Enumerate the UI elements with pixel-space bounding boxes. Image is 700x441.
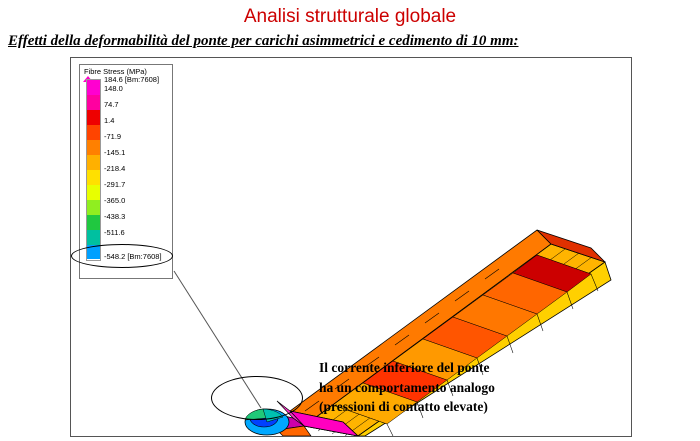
legend-tick-4: -145.1 xyxy=(104,148,125,157)
legend-tick-8: -438.3 xyxy=(104,212,125,221)
model-annotation: Il corrente inferiore del ponte ha un co… xyxy=(319,358,619,417)
legend-tick-2: 1.4 xyxy=(104,116,114,125)
annotation-line-3: (pressioni di contatto elevate) xyxy=(319,397,619,417)
fea-figure: Fibre Stress (MPa) 184.6 [Bm:7608] 148.0… xyxy=(70,57,632,437)
legend-tick-0: 148.0 xyxy=(104,84,123,93)
model-detail-highlight-ellipse xyxy=(211,376,303,420)
page-subtitle: Effetti della deformabilità del ponte pe… xyxy=(8,33,694,50)
legend-max-label: 184.6 [Bm:7608] xyxy=(104,75,159,84)
legend-tick-1: 74.7 xyxy=(104,100,119,109)
legend-tick-7: -365.0 xyxy=(104,196,125,205)
legend-min-highlight-ellipse xyxy=(71,244,173,268)
legend-tick-5: -218.4 xyxy=(104,164,125,173)
legend-tick-3: -71.9 xyxy=(104,132,121,141)
legend-tick-9: -511.6 xyxy=(104,228,125,237)
annotation-line-2: ha un comportamento analogo xyxy=(319,378,619,398)
annotation-line-1: Il corrente inferiore del ponte xyxy=(319,358,619,378)
legend-color-bar xyxy=(86,79,101,261)
page-title: Analisi strutturale globale xyxy=(0,6,700,28)
legend-tick-6: -291.7 xyxy=(104,180,125,189)
